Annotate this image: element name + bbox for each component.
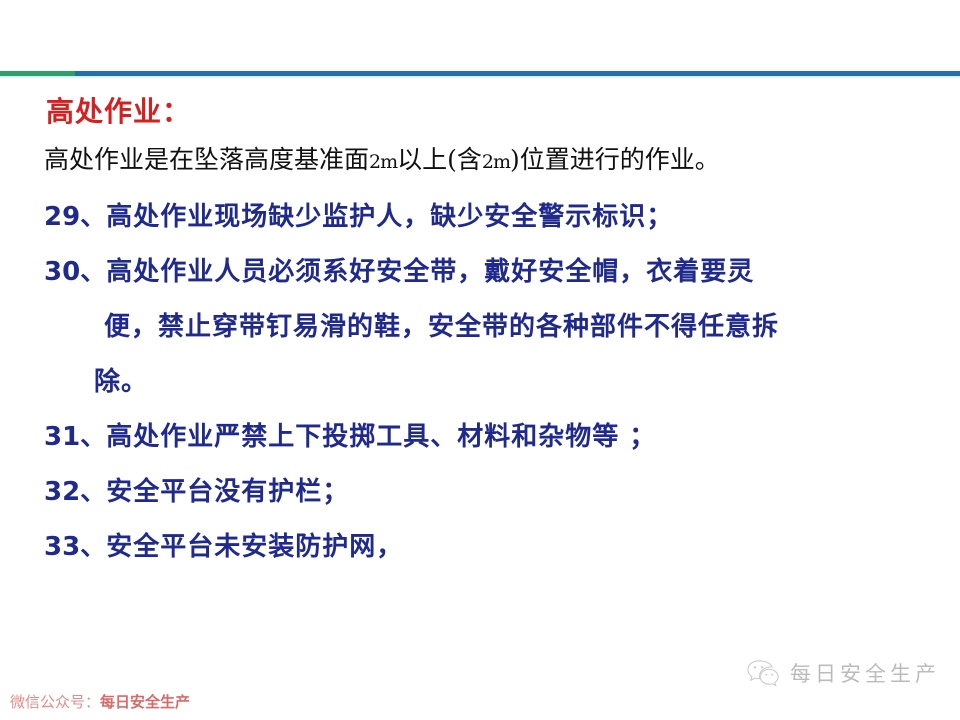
definition-part-before: 高处作业是在坠落高度基准面: [44, 145, 369, 174]
list-item-text: 除。: [94, 367, 148, 397]
list-item-continuation: 便，禁止穿带钉易滑的鞋，安全带的各种部件不得任意拆: [0, 300, 960, 355]
definition-unit-1: 2m: [369, 151, 397, 173]
list-item-text: 便，禁止穿带钉易滑的鞋，安全带的各种部件不得任意拆: [104, 312, 779, 342]
list-item: 33、安全平台未安装防护网，: [0, 520, 960, 575]
wechat-account-footer: 微信公众号：每日安全生产: [10, 692, 190, 712]
list-item: 31、高处作业严禁上下投掷工具、材料和杂物等 ；: [0, 410, 960, 465]
list-item-text: 安全平台未安装防护网，: [106, 532, 403, 562]
definition-unit-2: 2m: [482, 151, 510, 173]
list-item: 30、高处作业人员必须系好安全带，戴好安全帽，衣着要灵: [0, 245, 960, 300]
list-item-number: 30、: [44, 257, 106, 287]
list-item: 29、高处作业现场缺少监护人，缺少安全警示标识；: [0, 190, 960, 245]
list-item-text: 高处作业人员必须系好安全带，戴好安全帽，衣着要灵: [106, 257, 754, 287]
list-item-continuation: 除。: [0, 355, 960, 410]
list-item-text: 高处作业现场缺少监护人，缺少安全警示标识；: [106, 202, 673, 232]
list-item-number: 32、: [44, 477, 106, 507]
accent-rule-shadow: [0, 76, 960, 79]
numbered-item-list: 29、高处作业现场缺少监护人，缺少安全警示标识； 30、高处作业人员必须系好安全…: [0, 182, 960, 575]
slide-content: 高处作业： 高处作业是在坠落高度基准面2m以上(含2m)位置进行的作业。 29、…: [0, 90, 960, 575]
wechat-account-label: 微信公众号：: [10, 693, 100, 711]
definition-part-after: )位置进行的作业。: [510, 145, 720, 174]
list-item-number: 33、: [44, 532, 106, 562]
brand-watermark-text: 每日安全生产: [790, 658, 940, 688]
list-item-text: 安全平台没有护栏；: [106, 477, 349, 507]
list-item-number: 29、: [44, 202, 106, 232]
brand-watermark: 每日安全生产: [746, 658, 940, 688]
list-item-number: 31、: [44, 422, 106, 452]
wechat-icon: [746, 658, 780, 688]
definition-part-middle: 以上(含: [397, 145, 482, 174]
slide-canvas: 高处作业： 高处作业是在坠落高度基准面2m以上(含2m)位置进行的作业。 29、…: [0, 0, 960, 720]
page-title: 高处作业：: [0, 90, 960, 134]
wechat-account-name: 每日安全生产: [100, 693, 190, 711]
definition-text: 高处作业是在坠落高度基准面2m以上(含2m)位置进行的作业。: [0, 134, 960, 182]
list-item: 32、安全平台没有护栏；: [0, 465, 960, 520]
list-item-text: 高处作业严禁上下投掷工具、材料和杂物等 ；: [106, 422, 656, 452]
